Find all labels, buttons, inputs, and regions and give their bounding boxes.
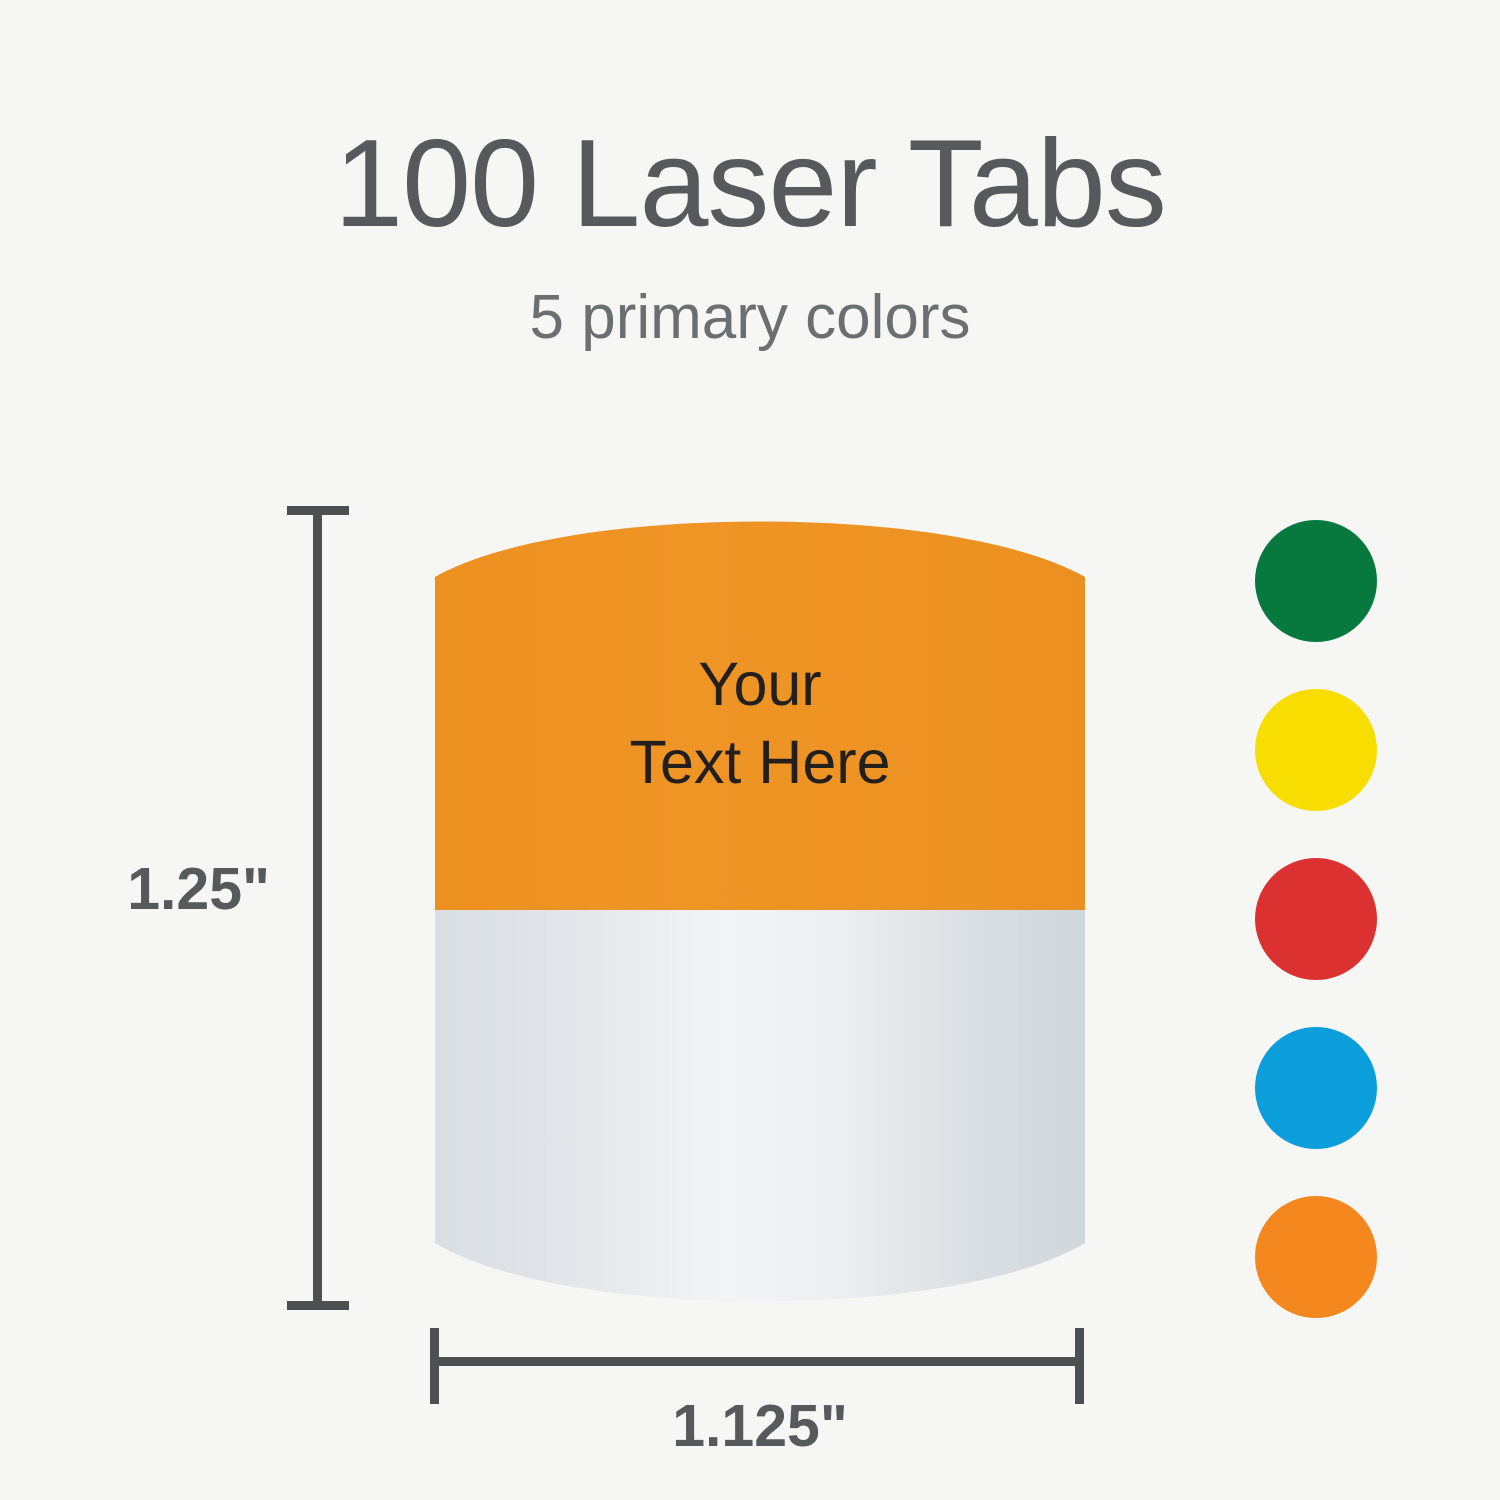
color-swatch-list xyxy=(1255,520,1385,1300)
tab-shape-svg xyxy=(415,495,1105,1325)
color-swatch-orange xyxy=(1255,1196,1377,1318)
width-dimension-label: 1.125" xyxy=(455,1392,1065,1460)
color-swatch-red xyxy=(1255,858,1377,980)
color-swatch-blue xyxy=(1255,1027,1377,1149)
page-subtitle: 5 primary colors xyxy=(0,287,1500,349)
product-infographic: 100 Laser Tabs 5 primary colors xyxy=(0,0,1500,1500)
height-dimension-label: 1.25" xyxy=(120,855,270,923)
color-swatch-green xyxy=(1255,520,1377,642)
page-title: 100 Laser Tabs xyxy=(0,122,1500,246)
height-dimension-line xyxy=(286,506,350,1310)
tab-write-on-area xyxy=(415,910,1105,1325)
tab-body xyxy=(415,495,1105,1325)
tab-color-band xyxy=(415,495,1105,910)
laser-tab-illustration: Your Text Here xyxy=(415,495,1105,1325)
color-swatch-yellow xyxy=(1255,689,1377,811)
